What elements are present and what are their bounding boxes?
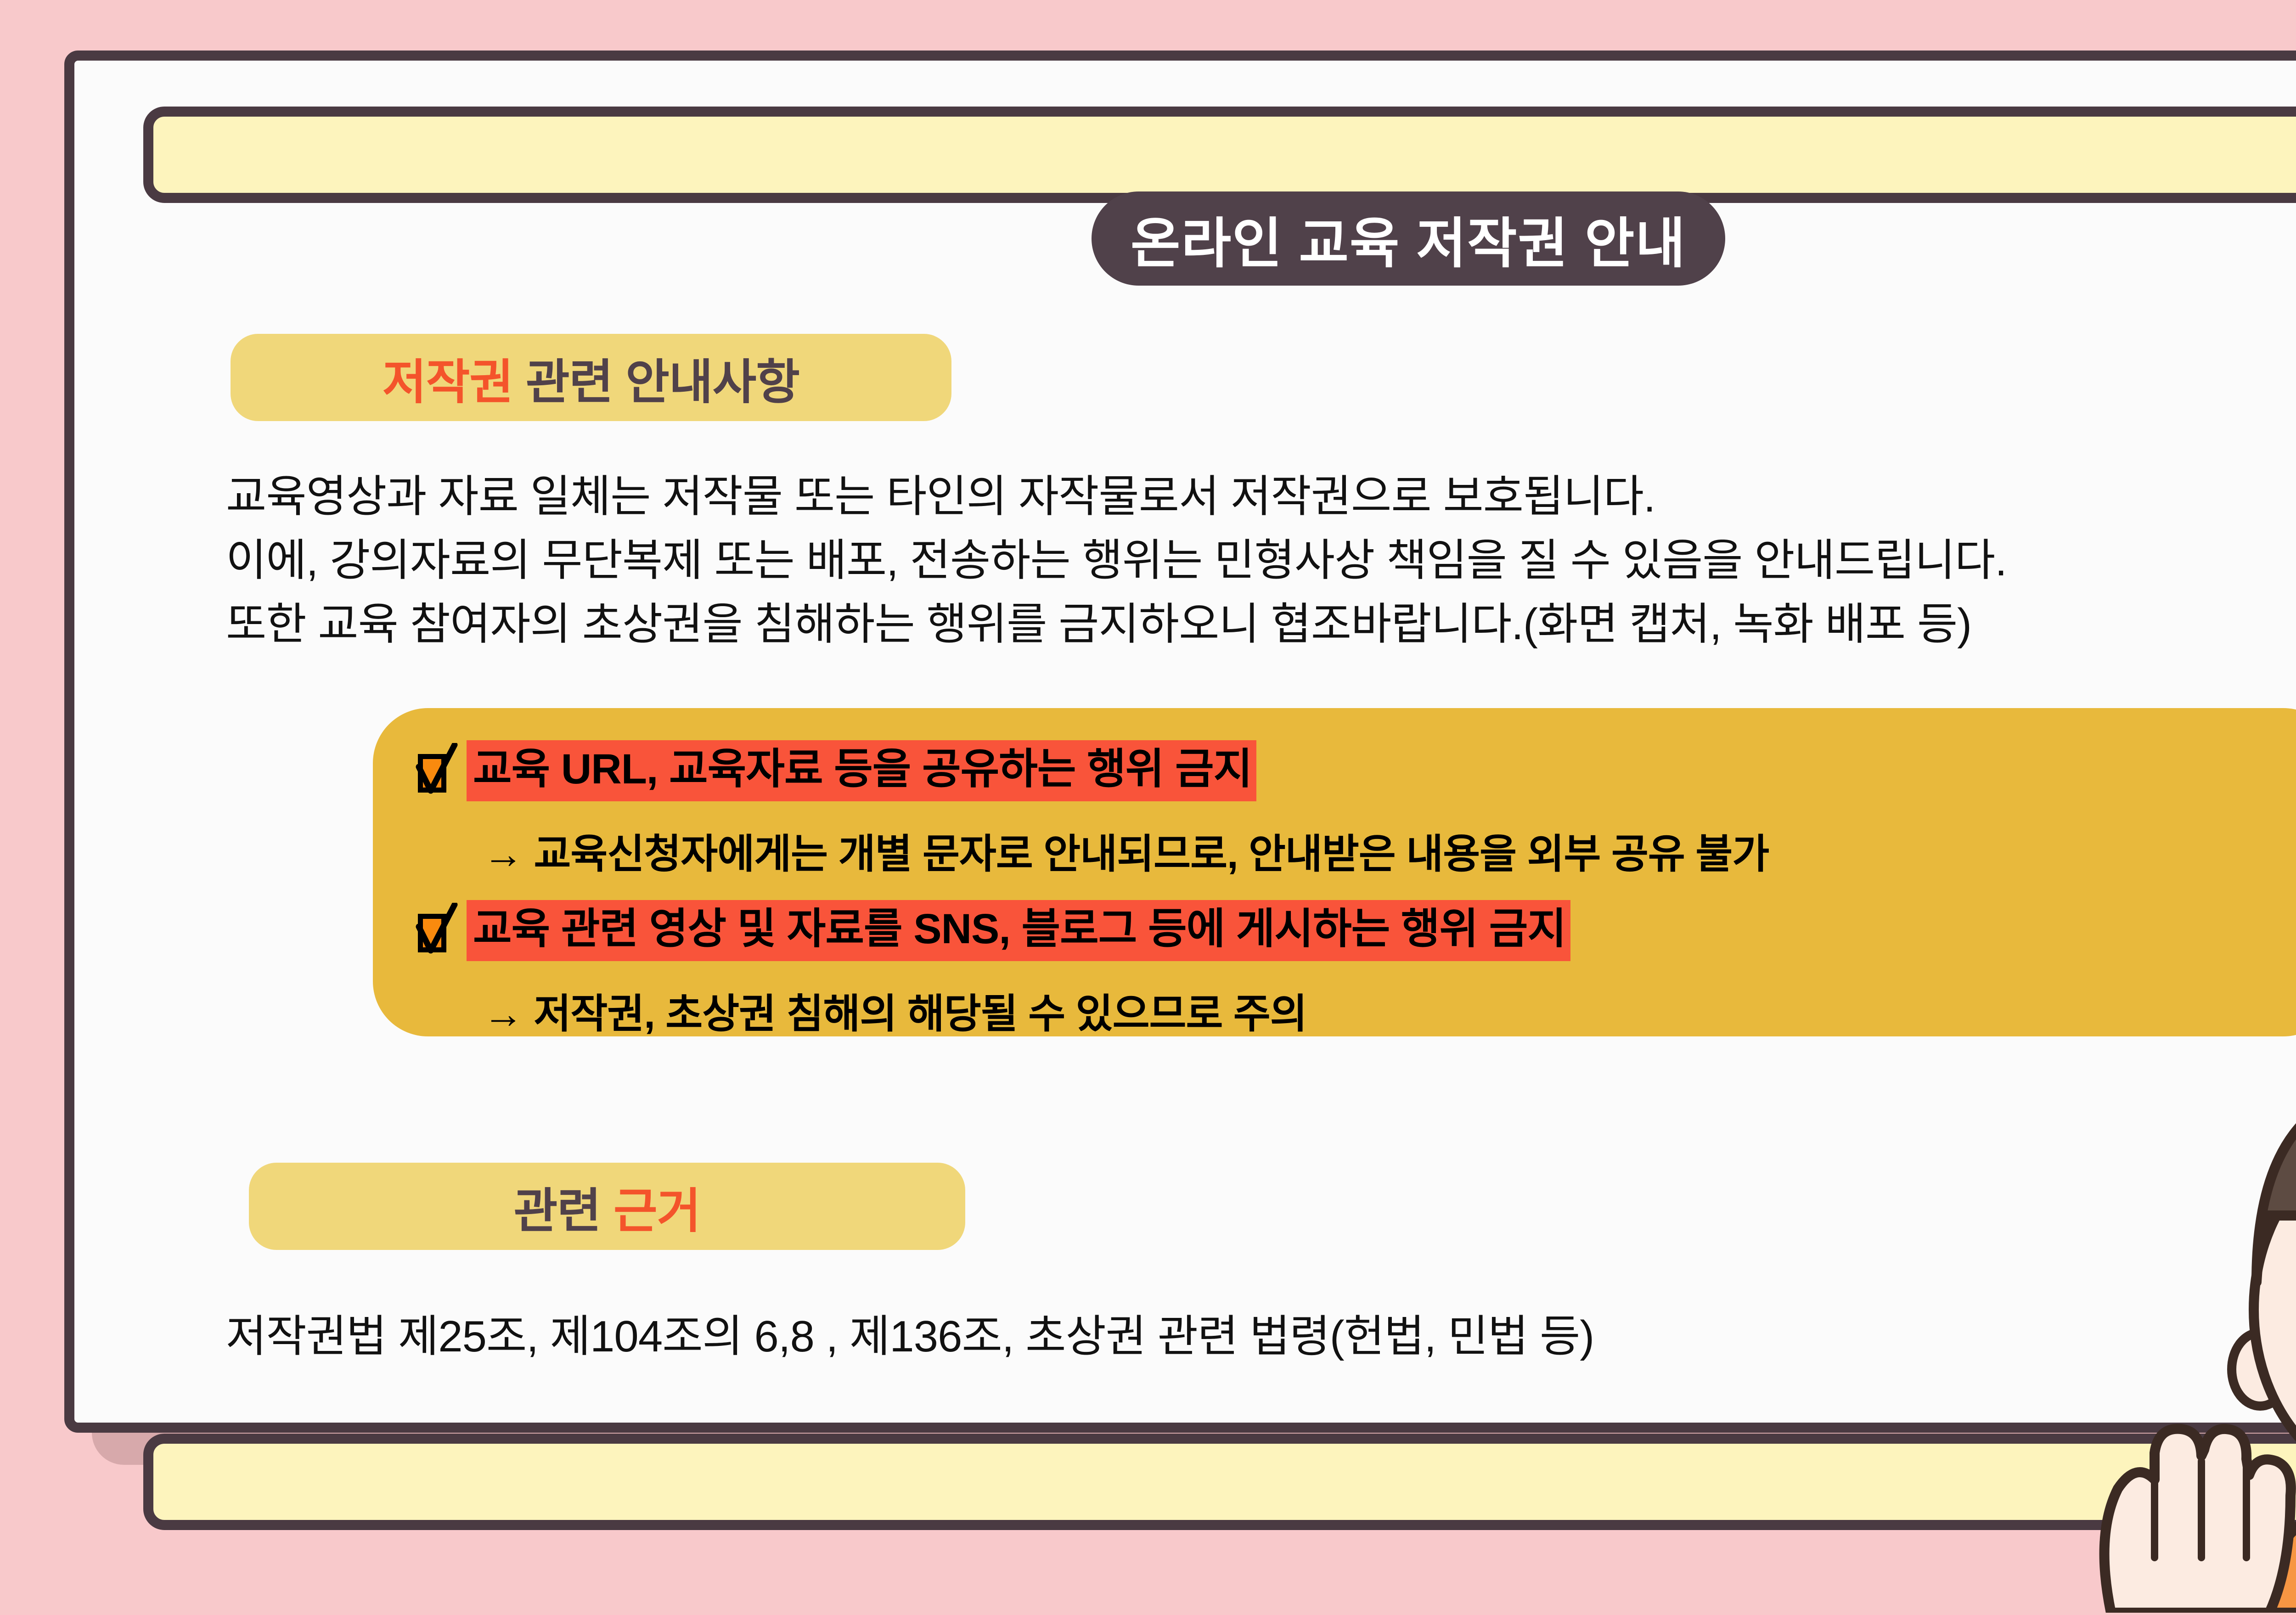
callout-item: 교육 관련 영상 및 자료를 SNS, 블로그 등에 게시하는 행위 금지 [410, 891, 2296, 970]
basis-heading-accent: 근거 [613, 1185, 700, 1238]
raised-hand-icon [2105, 1429, 2291, 1613]
basis-section-heading: 관련 근거 [249, 1163, 965, 1250]
poster-board: 온라인 교육 저작권 안내 저작권 관련 안내사항 교육영상과 자료 일체는 저… [64, 51, 2296, 1433]
prohibition-callout-box: 교육 URL, 교육자료 등을 공유하는 행위 금지 → 교육신청자에게는 개별… [373, 708, 2296, 1036]
notice-paragraph: 이에, 강의자료의 무단복제 또는 배포, 전송하는 행위는 민형사상 책임을 … [226, 529, 2296, 592]
notice-heading-rest: 관련 안내사항 [513, 356, 799, 409]
top-rail [143, 107, 2296, 203]
notice-paragraph: 교육영상과 자료 일체는 저작물 또는 타인의 자작물로서 저작권으로 보호됩니… [226, 465, 2296, 529]
callout-item-highlight: 교육 관련 영상 및 자료를 SNS, 블로그 등에 게시하는 행위 금지 [467, 900, 1570, 961]
callout-item-detail-row: → 교육신청자에게는 개별 문자로 안내되므로, 안내받은 내용을 외부 공유 … [410, 810, 2296, 891]
basis-heading-rest: 관련 [514, 1185, 613, 1238]
checkbox-checked-icon [414, 748, 454, 793]
notice-paragraph: 또한 교육 참여자의 초상권을 침해하는 행위를 금지하오니 협조바랍니다.(화… [226, 592, 2296, 656]
legal-basis-text: 저작권법 제25조, 제104조의 6,8 , 제136조, 초상권 관련 법령… [226, 1300, 1594, 1364]
page-title-text: 온라인 교육 저작권 안내 [1131, 199, 1686, 278]
callout-item-highlight: 교육 URL, 교육자료 등을 공유하는 행위 금지 [467, 740, 1256, 801]
checkbox-checked-icon [414, 907, 454, 953]
callout-item: 교육 URL, 교육자료 등을 공유하는 행위 금지 [410, 731, 2296, 810]
callout-item-detail: → 저작권, 초상권 침해의 해당될 수 있으므로 주의 [483, 981, 1307, 1040]
callout-item-detail-row: → 저작권, 초상권 침해의 해당될 수 있으므로 주의 [410, 970, 2296, 1051]
callout-item-detail: → 교육신청자에게는 개별 문자로 안내되므로, 안내받은 내용을 외부 공유 … [483, 822, 1769, 880]
notice-body: 교육영상과 자료 일체는 저작물 또는 타인의 자작물로서 저작권으로 보호됩니… [226, 465, 2296, 657]
page-title: 온라인 교육 저작권 안내 [1092, 191, 1725, 286]
notice-heading-accent: 저작권 [383, 356, 513, 409]
notice-section-heading: 저작권 관련 안내사항 [231, 334, 951, 421]
person-stop-gesture [2086, 988, 2296, 1613]
bottom-rail [143, 1434, 2296, 1530]
